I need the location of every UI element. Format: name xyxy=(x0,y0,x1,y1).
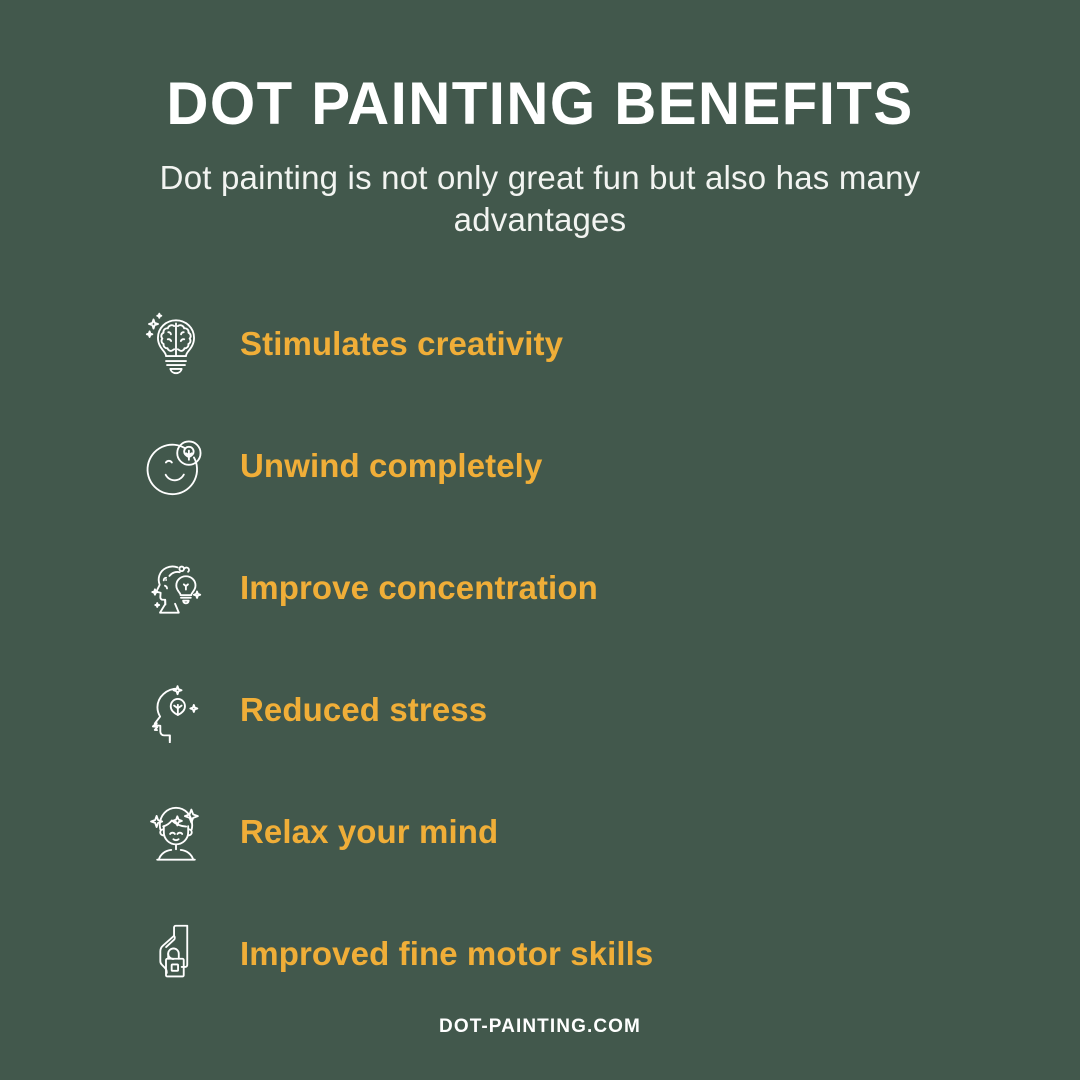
benefit-label: Unwind completely xyxy=(240,447,542,485)
list-item: Improve concentration xyxy=(140,527,598,649)
benefit-label: Reduced stress xyxy=(240,691,487,729)
head-profile-lotus-icon xyxy=(140,670,212,750)
list-item: Unwind completely xyxy=(140,405,542,527)
hand-holding-object-icon xyxy=(140,914,212,994)
list-item: Relax your mind xyxy=(140,771,498,893)
list-item: Improved fine motor skills xyxy=(140,893,653,1015)
benefit-label: Relax your mind xyxy=(240,813,498,851)
head-profile-lightbulb-icon xyxy=(140,548,212,628)
website-url[interactable]: DOT-PAINTING.COM xyxy=(439,1016,641,1037)
lightbulb-brain-sparkle-icon xyxy=(140,304,212,384)
page-title: DOT PAINTING BENEFITS xyxy=(16,72,1064,135)
smiling-face-leaf-badge-icon xyxy=(140,426,212,506)
poster-canvas: DOT PAINTING BENEFITS Dot painting is no… xyxy=(0,0,1080,1080)
page-subtitle: Dot painting is not only great fun but a… xyxy=(145,157,935,241)
benefit-label: Improved fine motor skills xyxy=(240,935,653,973)
list-item: Reduced stress xyxy=(140,649,487,771)
benefits-list: Stimulates creativity Unwind completely xyxy=(0,283,1080,1015)
calm-face-sparkles-icon xyxy=(140,792,212,872)
poster-header: DOT PAINTING BENEFITS Dot painting is no… xyxy=(0,0,1080,241)
poster-footer: DOT-PAINTING.COM xyxy=(0,1016,1080,1038)
list-item: Stimulates creativity xyxy=(140,283,563,405)
benefit-label: Improve concentration xyxy=(240,569,598,607)
benefit-label: Stimulates creativity xyxy=(240,325,563,363)
